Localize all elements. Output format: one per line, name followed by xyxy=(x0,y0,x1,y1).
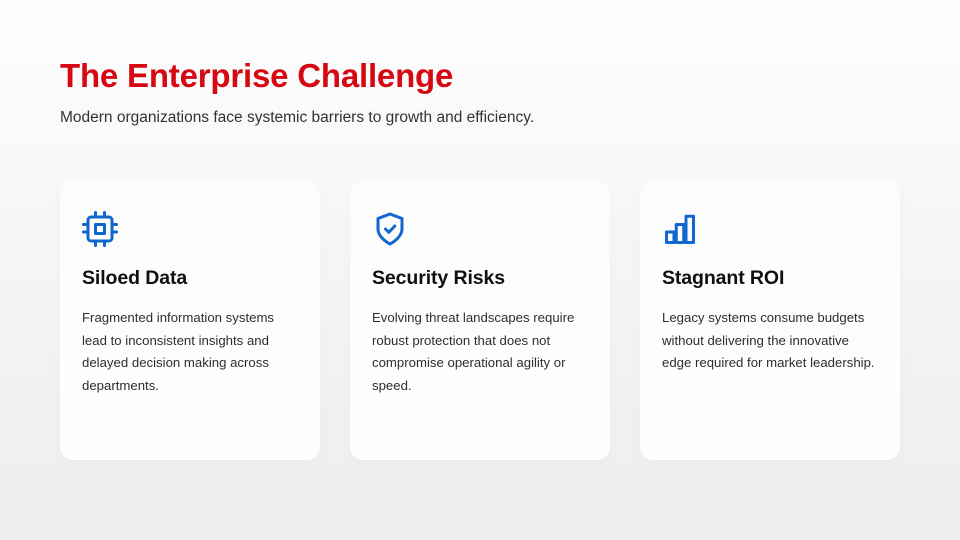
card-body: Legacy systems consume budgets without d… xyxy=(662,307,878,375)
card-stagnant-roi[interactable]: Stagnant ROI Legacy systems consume budg… xyxy=(640,180,900,460)
slide-header: The Enterprise Challenge Modern organiza… xyxy=(0,0,960,155)
card-body: Evolving threat landscapes require robus… xyxy=(372,307,588,397)
cpu-chip-icon xyxy=(82,211,118,247)
card-title: Siloed Data xyxy=(82,266,298,290)
page-subtitle: Modern organizations face systemic barri… xyxy=(60,107,960,129)
shield-check-icon xyxy=(372,211,408,247)
page-title: The Enterprise Challenge xyxy=(60,56,960,96)
challenge-cards-row: Siloed Data Fragmented information syste… xyxy=(60,180,900,460)
card-security-risks[interactable]: Security Risks Evolving threat landscape… xyxy=(350,180,610,460)
bar-chart-icon xyxy=(662,211,698,247)
card-title: Stagnant ROI xyxy=(662,266,878,290)
card-siloed-data[interactable]: Siloed Data Fragmented information syste… xyxy=(60,180,320,460)
card-title: Security Risks xyxy=(372,266,588,290)
slide-root: The Enterprise Challenge Modern organiza… xyxy=(0,0,960,540)
card-body: Fragmented information systems lead to i… xyxy=(82,307,298,397)
